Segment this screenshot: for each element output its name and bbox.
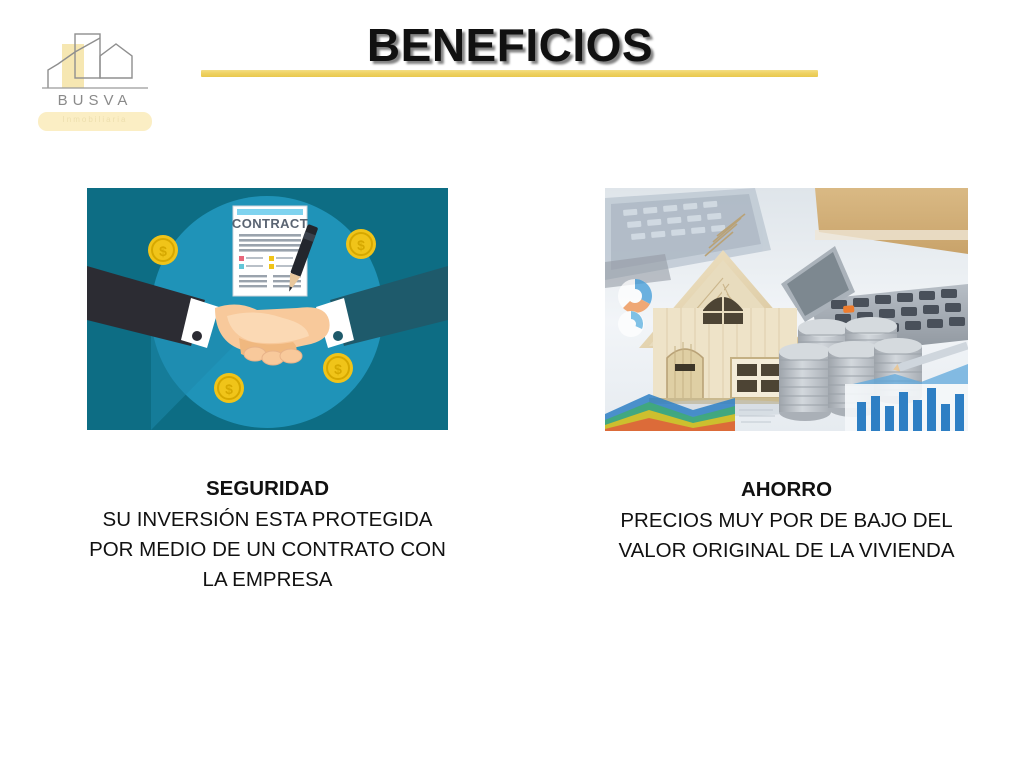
- benefit-heading: AHORRO: [605, 475, 968, 505]
- svg-text:$: $: [334, 361, 342, 377]
- benefit-body: PRECIOS MUY POR DE BAJO DEL VALOR ORIGIN…: [605, 506, 968, 566]
- svg-text:$: $: [225, 381, 233, 397]
- company-logo: BUSVA Inmobiliaria: [30, 30, 160, 135]
- benefit-caption-ahorro: AHORRO PRECIOS MUY POR DE BAJO DEL VALOR…: [605, 475, 968, 566]
- svg-text:$: $: [357, 237, 365, 253]
- logo-tagline-plate: Inmobiliaria: [38, 112, 152, 131]
- benefit-caption-seguridad: SEGURIDAD SU INVERSIÓN ESTA PROTEGIDA PO…: [87, 474, 448, 595]
- house-model-coins-photo: [605, 188, 968, 431]
- svg-text:$: $: [159, 243, 167, 259]
- slide-title: BENEFICIOS: [200, 18, 820, 72]
- svg-text:CONTRACT: CONTRACT: [232, 216, 308, 231]
- handshake-contract-illustration: CONTRACT: [87, 188, 448, 430]
- benefit-column-ahorro: AHORRO PRECIOS MUY POR DE BAJO DEL VALOR…: [605, 188, 968, 566]
- benefit-heading: SEGURIDAD: [87, 474, 448, 504]
- logo-tagline: Inmobiliaria: [38, 115, 152, 124]
- title-underline-rule: [201, 70, 818, 77]
- benefit-body: SU INVERSIÓN ESTA PROTEGIDA POR MEDIO DE…: [87, 505, 448, 595]
- logo-wordmark: BUSVA: [30, 92, 160, 109]
- benefit-column-seguridad: CONTRACT: [87, 188, 448, 595]
